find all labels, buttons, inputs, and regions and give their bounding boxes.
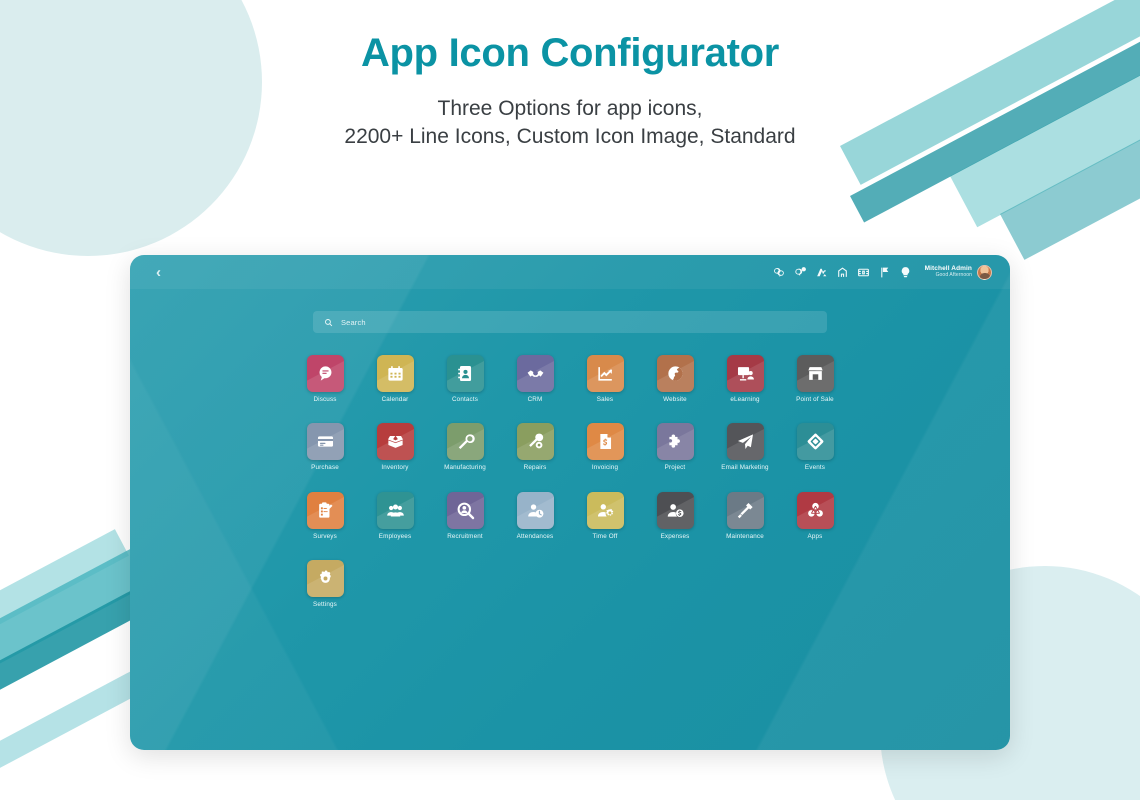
app-label: Sales bbox=[597, 397, 614, 403]
chat-icon[interactable] bbox=[307, 355, 344, 392]
clipboard-edit-icon[interactable] bbox=[307, 492, 344, 529]
app-icon-events[interactable]: Events bbox=[780, 423, 850, 471]
search-input[interactable]: Search bbox=[313, 311, 827, 333]
globe-icon[interactable] bbox=[657, 355, 694, 392]
app-icon-inventory[interactable]: Inventory bbox=[360, 423, 430, 471]
flag-branch-icon[interactable] bbox=[878, 266, 891, 279]
app-icon-elearning[interactable]: eLearning bbox=[710, 355, 780, 403]
app-label: Maintenance bbox=[726, 534, 764, 540]
app-icon-calendar[interactable]: Calendar bbox=[360, 355, 430, 403]
gear-icon[interactable] bbox=[307, 560, 344, 597]
app-label: Expenses bbox=[661, 534, 690, 540]
hammer-icon[interactable] bbox=[727, 492, 764, 529]
app-label: Settings bbox=[313, 602, 337, 608]
app-label: Email Marketing bbox=[721, 465, 768, 471]
app-icon-recruitment[interactable]: Recruitment bbox=[430, 492, 500, 540]
wrench-icon[interactable] bbox=[447, 423, 484, 460]
mail-card-icon[interactable] bbox=[857, 266, 870, 279]
app-label: Point of Sale bbox=[796, 397, 834, 403]
credit-card-icon[interactable] bbox=[307, 423, 344, 460]
back-button[interactable]: ‹ bbox=[156, 265, 161, 280]
app-label: Recruitment bbox=[447, 534, 483, 540]
app-label: Manufacturing bbox=[444, 465, 486, 471]
app-icon-repairs[interactable]: Repairs bbox=[500, 423, 570, 471]
invoice-icon[interactable] bbox=[587, 423, 624, 460]
app-icon-invoicing[interactable]: Invoicing bbox=[570, 423, 640, 471]
avatar[interactable] bbox=[977, 265, 992, 280]
app-icon-website[interactable]: Website bbox=[640, 355, 710, 403]
paper-plane-icon[interactable] bbox=[727, 423, 764, 460]
app-icon-grid: DiscussCalendarContactsCRMSalesWebsiteeL… bbox=[290, 355, 850, 608]
app-label: CRM bbox=[528, 397, 543, 403]
user-menu[interactable]: Mitchell Admin Good Afternoon bbox=[925, 265, 992, 280]
app-label: Repairs bbox=[524, 465, 547, 471]
chat-bubble-badge-icon[interactable] bbox=[794, 266, 807, 279]
store-icon[interactable] bbox=[797, 355, 834, 392]
search-placeholder: Search bbox=[341, 318, 366, 327]
app-icon-sales[interactable]: Sales bbox=[570, 355, 640, 403]
blocks-icon[interactable] bbox=[797, 492, 834, 529]
subtitle-line-1: Three Options for app icons, bbox=[0, 95, 1140, 123]
app-icon-attendances[interactable]: Attendances bbox=[500, 492, 570, 540]
app-icon-project[interactable]: Project bbox=[640, 423, 710, 471]
search-person-icon[interactable] bbox=[447, 492, 484, 529]
app-icon-email-marketing[interactable]: Email Marketing bbox=[710, 423, 780, 471]
search-row: Search bbox=[130, 289, 1010, 333]
decor-band-bottom-left-4 bbox=[0, 529, 129, 696]
system-tray: Mitchell Admin Good Afternoon bbox=[773, 265, 992, 280]
app-label: Time Off bbox=[593, 534, 618, 540]
app-label: Invoicing bbox=[592, 465, 618, 471]
person-clock-icon[interactable] bbox=[517, 492, 554, 529]
ticket-icon[interactable] bbox=[797, 423, 834, 460]
search-icon bbox=[324, 318, 333, 327]
app-icon-employees[interactable]: Employees bbox=[360, 492, 430, 540]
app-label: Contacts bbox=[452, 397, 478, 403]
lightbulb-icon[interactable] bbox=[899, 266, 912, 279]
app-label: Events bbox=[805, 465, 825, 471]
page-subtitle: Three Options for app icons, 2200+ Line … bbox=[0, 95, 1140, 150]
calendar-icon[interactable] bbox=[377, 355, 414, 392]
subtitle-line-2: 2200+ Line Icons, Custom Icon Image, Sta… bbox=[0, 123, 1140, 151]
presentation-icon[interactable] bbox=[727, 355, 764, 392]
app-icon-apps[interactable]: Apps bbox=[780, 492, 850, 540]
app-window: ‹ bbox=[130, 255, 1010, 750]
app-icon-manufacturing[interactable]: Manufacturing bbox=[430, 423, 500, 471]
people-icon[interactable] bbox=[377, 492, 414, 529]
user-text: Mitchell Admin Good Afternoon bbox=[925, 265, 972, 278]
person-money-icon[interactable] bbox=[657, 492, 694, 529]
chart-up-icon[interactable] bbox=[587, 355, 624, 392]
open-box-icon[interactable] bbox=[377, 423, 414, 460]
app-icon-surveys[interactable]: Surveys bbox=[290, 492, 360, 540]
page-title: App Icon Configurator bbox=[0, 30, 1140, 77]
contact-card-icon[interactable] bbox=[447, 355, 484, 392]
handshake-icon[interactable] bbox=[517, 355, 554, 392]
chat-bubbles-icon[interactable] bbox=[773, 266, 786, 279]
person-gear-icon[interactable] bbox=[587, 492, 624, 529]
app-icon-point-of-sale[interactable]: Point of Sale bbox=[780, 355, 850, 403]
wrench-gear-icon[interactable] bbox=[517, 423, 554, 460]
app-icon-settings[interactable]: Settings bbox=[290, 560, 360, 608]
app-icon-purchase[interactable]: Purchase bbox=[290, 423, 360, 471]
window-topbar: ‹ bbox=[130, 255, 1010, 289]
app-label: Discuss bbox=[313, 397, 336, 403]
app-label: Inventory bbox=[381, 465, 408, 471]
app-label: Website bbox=[663, 397, 687, 403]
app-icon-discuss[interactable]: Discuss bbox=[290, 355, 360, 403]
app-icon-time-off[interactable]: Time Off bbox=[570, 492, 640, 540]
app-label: Attendances bbox=[517, 534, 554, 540]
app-label: Apps bbox=[808, 534, 823, 540]
app-label: Calendar bbox=[382, 397, 409, 403]
puzzle-icon[interactable] bbox=[657, 423, 694, 460]
app-icon-maintenance[interactable]: Maintenance bbox=[710, 492, 780, 540]
app-label: Employees bbox=[379, 534, 412, 540]
app-label: eLearning bbox=[730, 397, 759, 403]
app-label: Purchase bbox=[311, 465, 339, 471]
activity-icon[interactable] bbox=[815, 266, 828, 279]
user-greeting: Good Afternoon bbox=[925, 273, 972, 279]
app-label: Project bbox=[665, 465, 686, 471]
page-root: App Icon Configurator Three Options for … bbox=[0, 0, 1140, 800]
hero-section: App Icon Configurator Three Options for … bbox=[0, 30, 1140, 151]
app-icon-crm[interactable]: CRM bbox=[500, 355, 570, 403]
app-icon-contacts[interactable]: Contacts bbox=[430, 355, 500, 403]
app-label: Surveys bbox=[313, 534, 337, 540]
app-icon-expenses[interactable]: Expenses bbox=[640, 492, 710, 540]
building-icon[interactable] bbox=[836, 266, 849, 279]
